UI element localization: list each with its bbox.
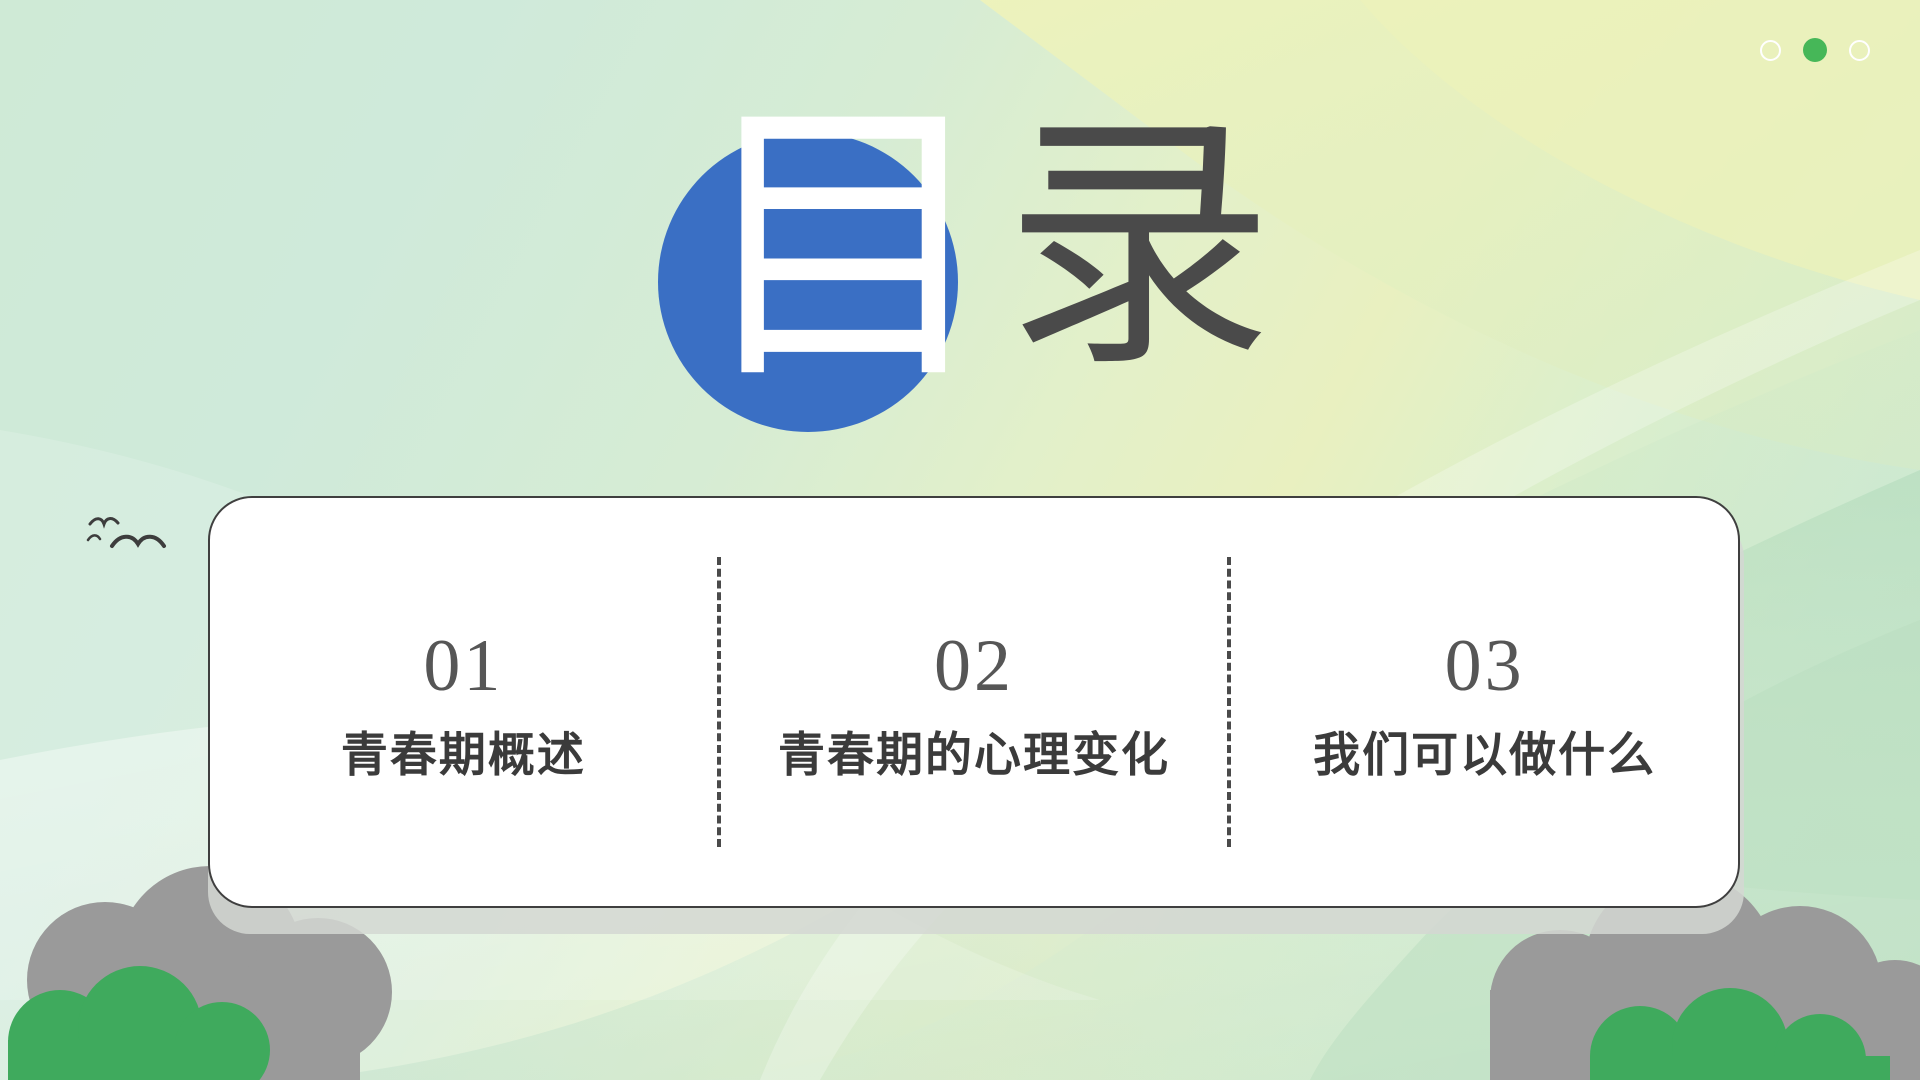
- menu-item-number: 03: [1445, 629, 1525, 703]
- dot-middle-icon[interactable]: [1803, 38, 1827, 62]
- title-char-first: 目: [694, 99, 994, 399]
- page-title: 目 录: [0, 104, 1920, 394]
- menu-item-number: 01: [423, 629, 503, 703]
- presentation-slide: 目 录 01 青春期概述 02 青春期的心理变化 03 我们可以做什么: [0, 0, 1920, 1080]
- dot-right-icon[interactable]: [1849, 40, 1870, 61]
- menu-item-label: 我们可以做什么: [1313, 729, 1656, 781]
- menu-item-label: 青春期概述: [341, 729, 586, 781]
- bird-flock-icon: [82, 500, 178, 570]
- title-char-second: 录: [1004, 114, 1274, 384]
- menu-item-01[interactable]: 01 青春期概述: [210, 498, 717, 906]
- dot-left-icon[interactable]: [1760, 40, 1781, 61]
- window-controls: [1760, 38, 1870, 62]
- menu-card: 01 青春期概述 02 青春期的心理变化 03 我们可以做什么: [208, 496, 1740, 908]
- menu-item-02[interactable]: 02 青春期的心理变化: [721, 498, 1228, 906]
- menu-item-03[interactable]: 03 我们可以做什么: [1231, 498, 1738, 906]
- menu-item-label: 青春期的心理变化: [778, 729, 1170, 781]
- menu-item-number: 02: [934, 629, 1014, 703]
